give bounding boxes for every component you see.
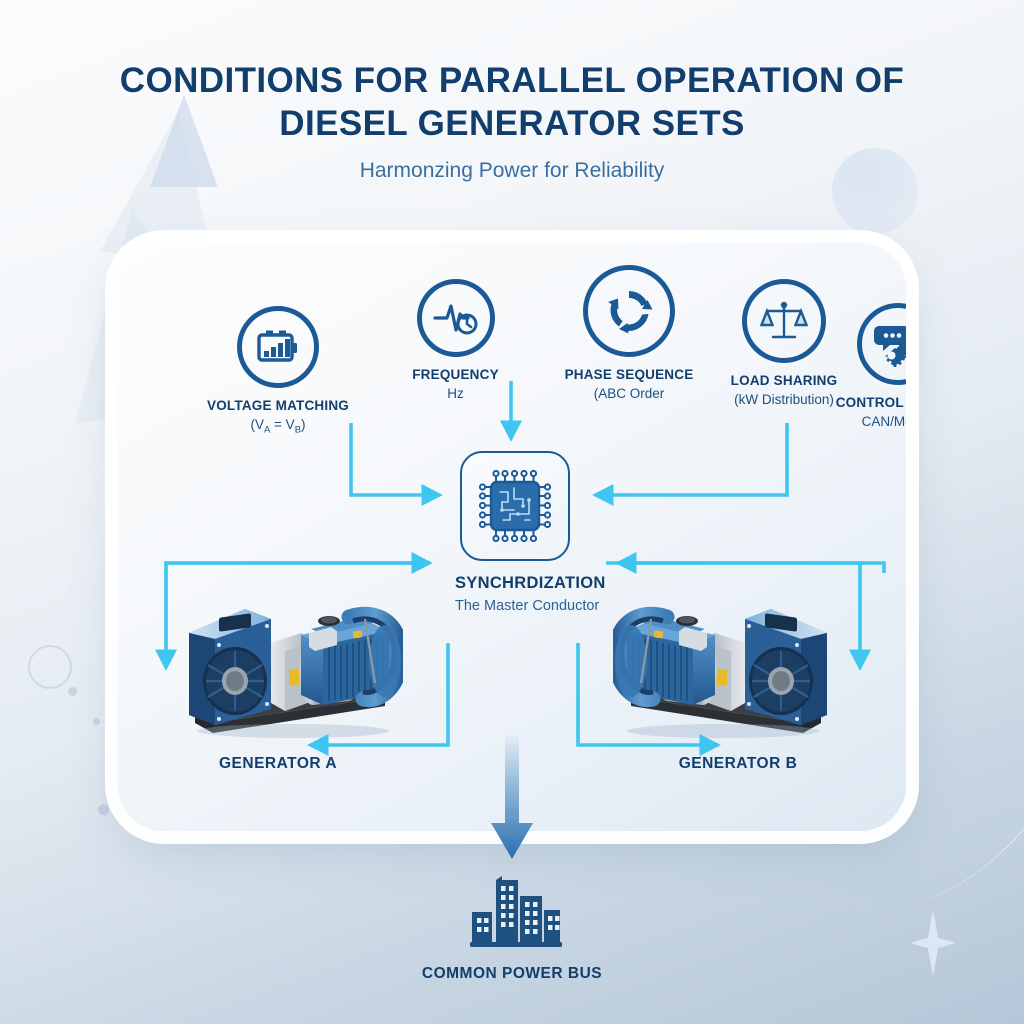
title-line-1: CONDITIONS FOR PARALLEL OPERATION OF (0, 60, 1024, 103)
generator-b-label: GENERATOR B (613, 755, 863, 773)
decor-dot (98, 804, 109, 815)
common-power-bus-label: COMMON POWER BUS (0, 965, 1024, 983)
condition-sublabel: CAN/Modas (783, 413, 906, 432)
condition-label: FREQUENCY (368, 366, 543, 385)
synchronization-title: SYNCHRDIZATION (455, 574, 575, 593)
condition-label: CONTROL COMMS (783, 394, 906, 413)
page-title: CONDITIONS FOR PARALLEL OPERATION OF DIE… (0, 60, 1024, 145)
decor-ring (28, 645, 72, 689)
sub-suffix: ) (301, 417, 306, 432)
chat-gear-icon (857, 303, 906, 385)
generator-illustration (153, 573, 403, 743)
battery-voltage-icon (237, 306, 319, 388)
condition-sublabel: Hz (368, 385, 543, 404)
microchip-icon (460, 451, 570, 561)
header: CONDITIONS FOR PARALLEL OPERATION OF DIE… (0, 60, 1024, 183)
decor-dot (93, 718, 100, 725)
waveform-clock-icon (417, 279, 495, 357)
decor-dot (68, 687, 77, 696)
city-buildings-icon (456, 872, 568, 948)
synchronization-subtitle: The Master Conductor (455, 598, 575, 614)
generator-a[interactable]: GENERATOR A (153, 573, 403, 773)
generator-a-label: GENERATOR A (153, 755, 403, 773)
condition-frequency[interactable]: FREQUENCY Hz (368, 279, 543, 403)
cycle-arrows-icon (583, 265, 675, 357)
title-line-2: DIESEL GENERATOR SETS (0, 103, 1024, 146)
condition-sublabel: (VA = VB) (163, 416, 393, 437)
condition-voltage-matching[interactable]: VOLTAGE MATCHING (VA = VB) (163, 306, 393, 436)
common-power-bus[interactable]: COMMON POWER BUS (0, 872, 1024, 983)
condition-label: VOLTAGE MATCHING (163, 397, 393, 416)
sub-mid: = V (270, 417, 294, 432)
synchronization-node[interactable]: SYNCHRDIZATION The Master Conductor (455, 451, 575, 614)
power-output-arrow (489, 735, 535, 863)
condition-control-comms[interactable]: CONTROL COMMS CAN/Modas (783, 303, 906, 431)
sub-prefix: (V (250, 417, 264, 432)
generator-illustration (613, 573, 863, 743)
generator-b[interactable]: GENERATOR B (613, 573, 863, 773)
page-subtitle: Harmonzing Power for Reliability (0, 159, 1024, 183)
